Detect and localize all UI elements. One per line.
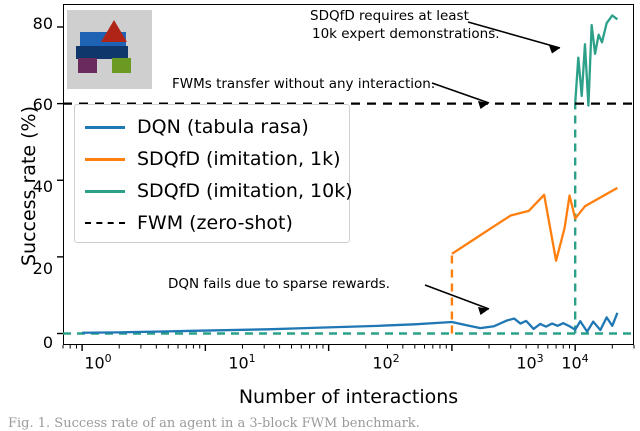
legend-swatch-dqn-icon: [85, 126, 125, 129]
x-tick-4: 103: [507, 352, 553, 372]
x-tick-3: 102: [363, 352, 409, 372]
y-tick-20: 20: [20, 259, 53, 278]
y-tick-40: 40: [20, 177, 53, 196]
y-tick-60: 60: [20, 95, 53, 114]
legend-item-fwm: FWM (zero-shot): [75, 207, 349, 239]
legend-label-sdqfd-1k: SDQfD (imitation, 1k): [137, 148, 341, 170]
legend-item-dqn: DQN (tabula rasa): [75, 111, 349, 143]
figure-caption: Fig. 1. Success rate of an agent in a 3-…: [8, 416, 632, 431]
legend-label-dqn: DQN (tabula rasa): [137, 116, 309, 138]
inset-red-triangle: [101, 20, 127, 42]
y-tick-80: 80: [20, 14, 53, 33]
inset-purple-block: [78, 58, 97, 73]
legend-label-sdqfd-10k: SDQfD (imitation, 10k): [137, 180, 353, 202]
x-tick-1: 100: [75, 352, 121, 372]
annotation-sdqfd-line2: 10k expert demonstrations.: [312, 26, 500, 42]
legend-item-sdqfd-10k: SDQfD (imitation, 10k): [75, 175, 349, 207]
annotation-fwm: FWMs transfer without any interaction.: [172, 76, 435, 92]
legend-swatch-sdqfd-1k-icon: [85, 158, 125, 161]
inset-green-block: [112, 58, 131, 73]
x-axis-label: Number of interactions: [63, 386, 634, 408]
legend-label-fwm: FWM (zero-shot): [137, 212, 293, 234]
annotation-dqn: DQN fails due to sparse rewards.: [168, 276, 390, 292]
annotation-sdqfd-line1: SDQfD requires at least: [310, 8, 469, 24]
legend-swatch-sdqfd-10k-icon: [85, 190, 125, 193]
x-tick-5: 104: [552, 352, 598, 372]
y-tick-0: 0: [20, 333, 53, 352]
inset-block-scene: [67, 10, 152, 89]
x-tick-2: 101: [219, 352, 265, 372]
legend-item-sdqfd-1k: SDQfD (imitation, 1k): [75, 143, 349, 175]
legend-swatch-fwm-icon: [85, 222, 125, 224]
figure-container: Success rate (%) 80 60 40 20 0 SDQfD req…: [0, 0, 640, 431]
legend: DQN (tabula rasa) SDQfD (imitation, 1k) …: [74, 104, 350, 243]
